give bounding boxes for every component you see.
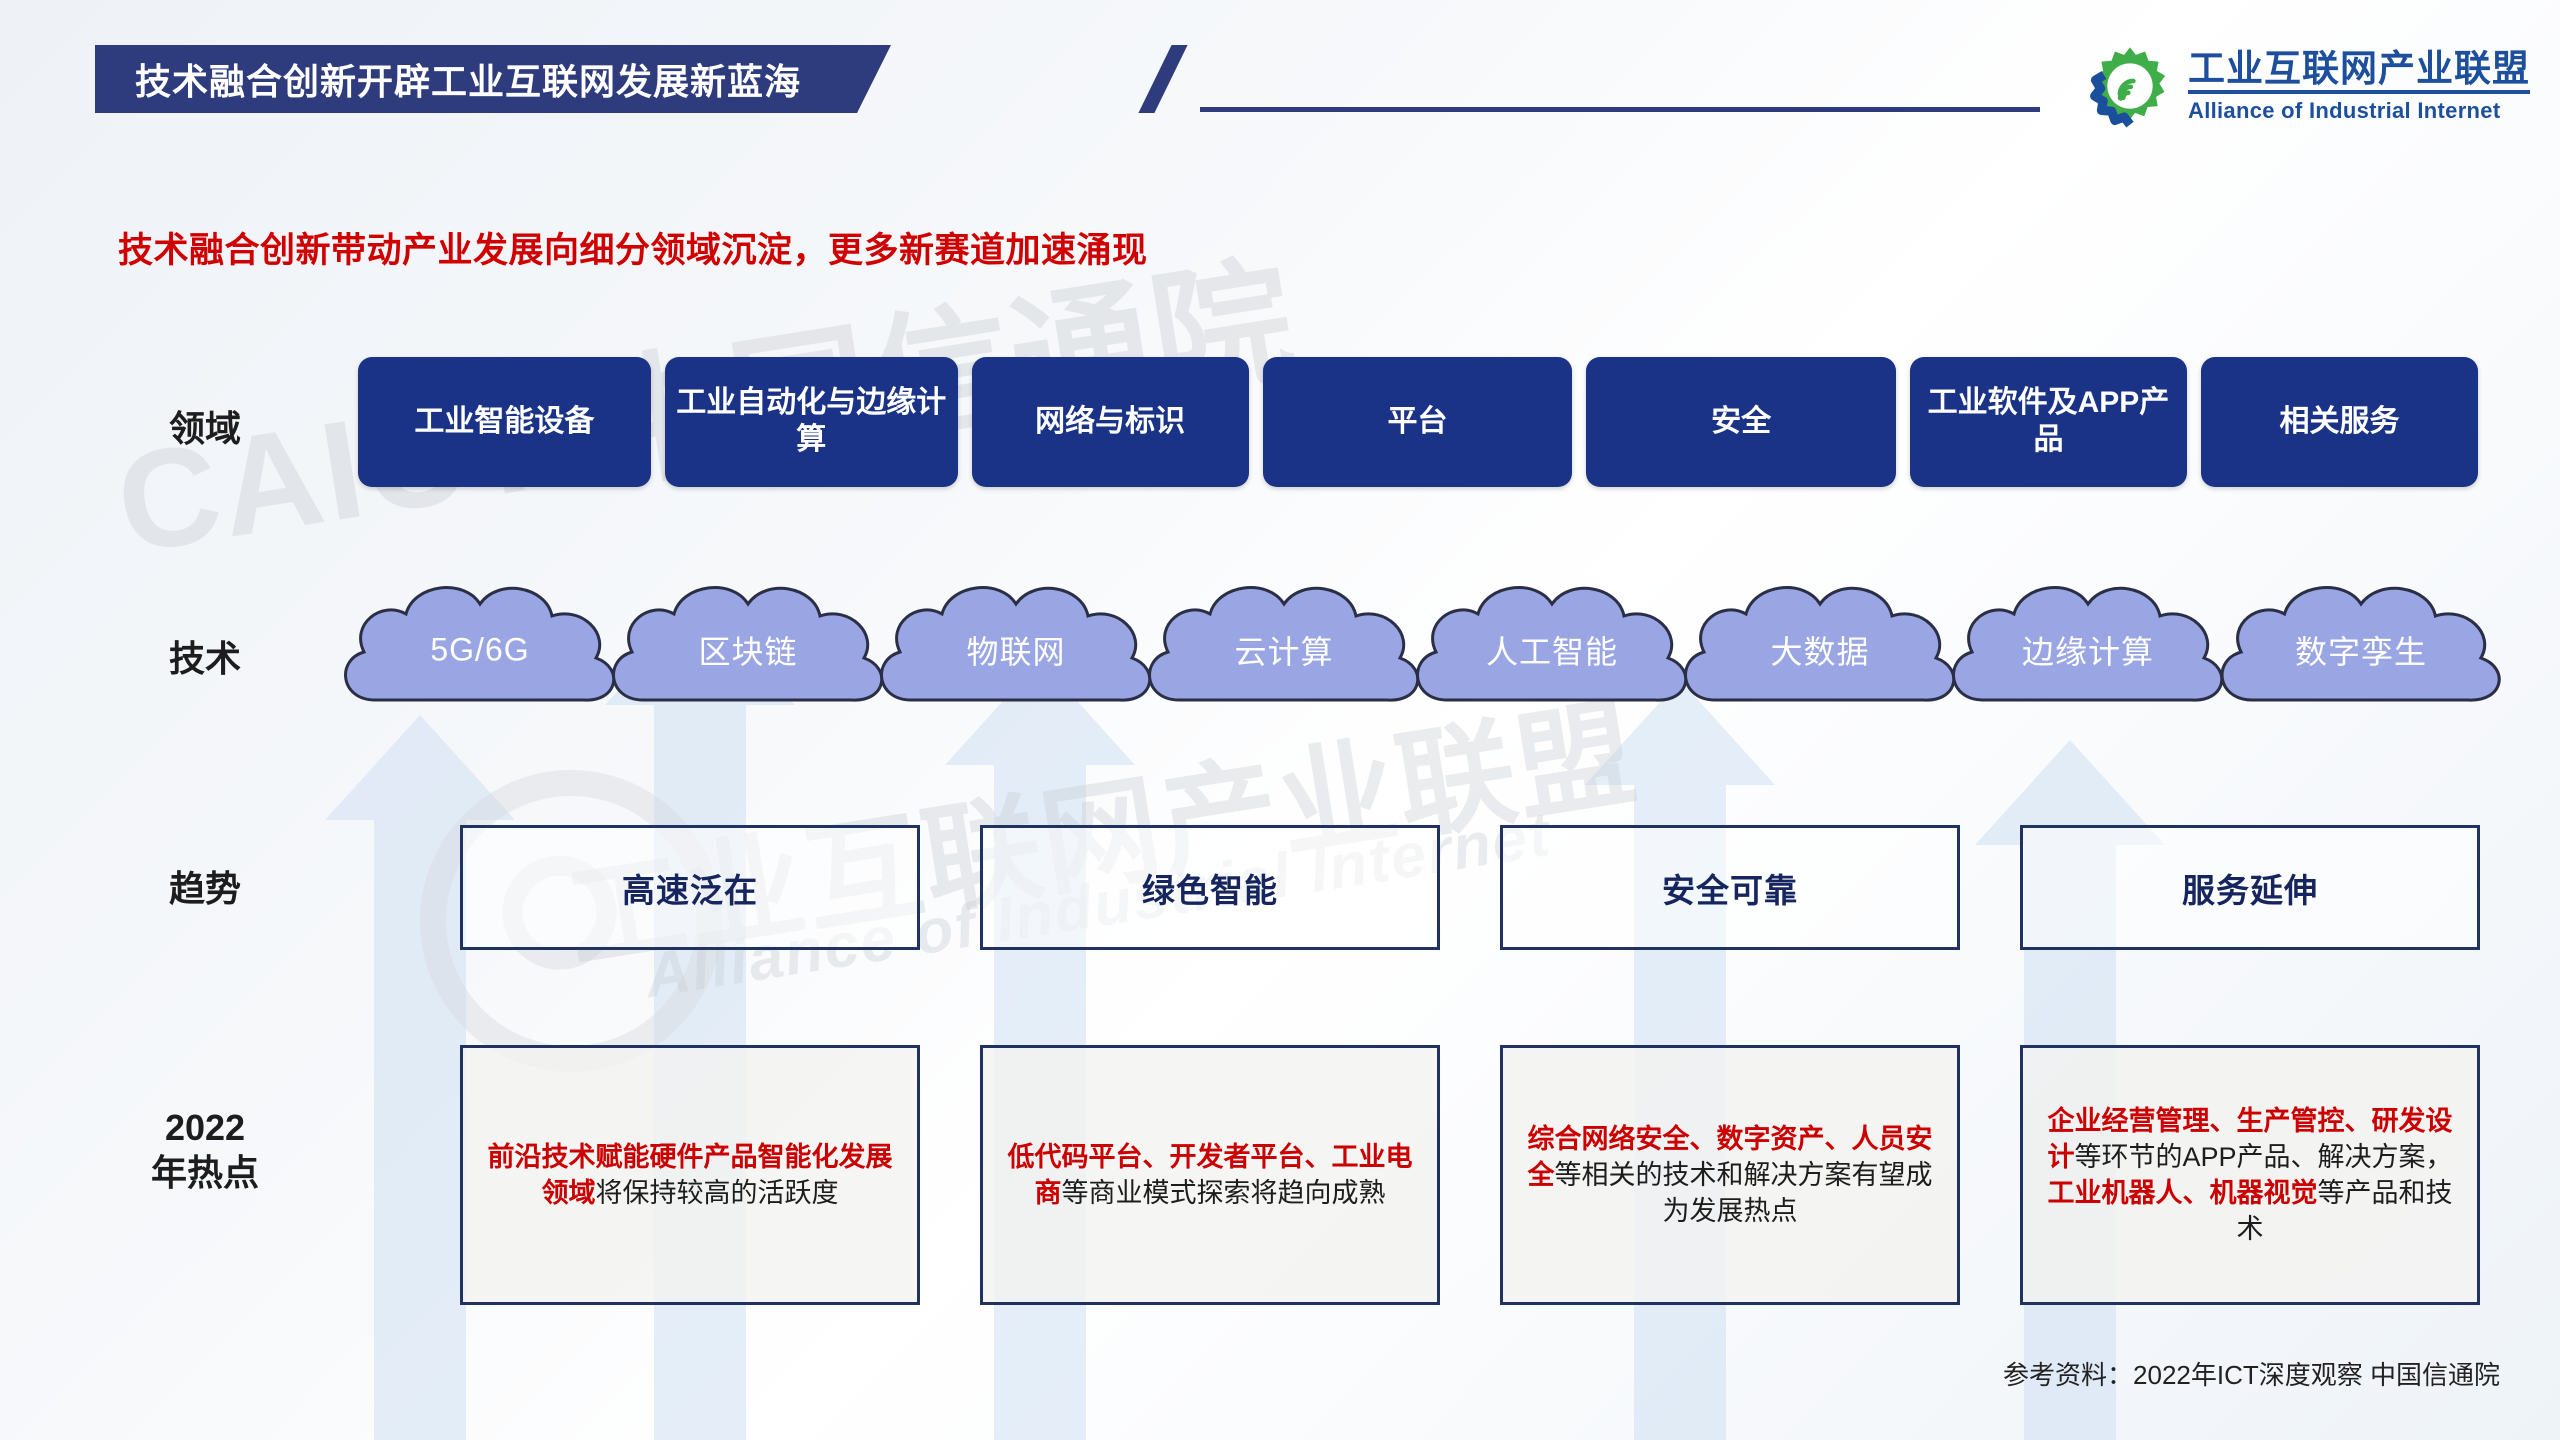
technology-cloud-label: 边缘计算 <box>1938 627 2238 673</box>
logo-title-cn: 工业互联网产业联盟 <box>2188 50 2530 94</box>
hotspot-text: 前沿技术赋能硬件产品智能化发展领域将保持较高的活跃度 <box>477 1139 903 1211</box>
domain-box[interactable]: 相关服务 <box>2201 357 2478 487</box>
source-note: 参考资料：2022年ICT深度观察 中国信通院 <box>2003 1355 2500 1392</box>
row-label-hotspot: 2022 年热点 <box>110 1105 300 1195</box>
technology-cloud-label: 大数据 <box>1670 627 1970 673</box>
logo-title-en: Alliance of Industrial Internet <box>2188 100 2530 122</box>
hotspot-plain: 等环节的APP产品、解决方案， <box>2074 1142 2452 1172</box>
hotspot-box[interactable]: 企业经营管理、生产管控、研发设计等环节的APP产品、解决方案，工业机器人、机器视… <box>2020 1045 2480 1305</box>
domain-box[interactable]: 工业自动化与边缘计算 <box>665 357 958 487</box>
alliance-logo: 工业互联网产业联盟 Alliance of Industrial Interne… <box>2088 44 2530 128</box>
header-slash-decoration <box>1138 45 1187 113</box>
hotspot-text: 企业经营管理、生产管控、研发设计等环节的APP产品、解决方案，工业机器人、机器视… <box>2037 1103 2463 1248</box>
row-label-hotspot-year: 2022 <box>110 1105 300 1150</box>
hotspot-box[interactable]: 前沿技术赋能硬件产品智能化发展领域将保持较高的活跃度 <box>460 1045 920 1305</box>
logo-text-block: 工业互联网产业联盟 Alliance of Industrial Interne… <box>2188 50 2530 122</box>
slide-root: CAICT 中国信通院 工业互联网产业联盟 Alliance of Indust… <box>0 0 2560 1440</box>
domain-box[interactable]: 平台 <box>1263 357 1573 487</box>
technology-cloud[interactable]: 物联网 <box>866 560 1166 740</box>
technology-cloud[interactable]: 云计算 <box>1134 560 1434 740</box>
section-subtitle: 技术融合创新带动产业发展向细分领域沉淀，更多新赛道加速涌现 <box>118 222 1148 273</box>
trend-row: 高速泛在 绿色智能 安全可靠 服务延伸 <box>460 825 2480 950</box>
hotspot-text: 低代码平台、开发者平台、工业电商等商业模式探索将趋向成熟 <box>997 1139 1423 1211</box>
domain-row: 工业智能设备 工业自动化与边缘计算 网络与标识 平台 安全 工业软件及APP产品… <box>358 357 2478 487</box>
trend-box[interactable]: 安全可靠 <box>1500 825 1960 950</box>
technology-cloud[interactable]: 大数据 <box>1670 560 1970 740</box>
hotspot-plain: 将保持较高的活跃度 <box>596 1178 839 1208</box>
hotspot-box[interactable]: 综合网络安全、数字资产、人员安全等相关的技术和解决方案有望成为发展热点 <box>1500 1045 1960 1305</box>
row-label-technology: 技术 <box>110 630 300 682</box>
trend-box[interactable]: 绿色智能 <box>980 825 1440 950</box>
domain-box[interactable]: 网络与标识 <box>972 357 1249 487</box>
technology-cloud-label: 数字孪生 <box>2206 627 2516 673</box>
technology-cloud-label: 物联网 <box>866 627 1166 673</box>
trend-box[interactable]: 服务延伸 <box>2020 825 2480 950</box>
page-title: 技术融合创新开辟工业互联网发展新蓝海 <box>135 53 801 105</box>
technology-cloud[interactable]: 人工智能 <box>1402 560 1702 740</box>
domain-box[interactable]: 工业智能设备 <box>358 357 651 487</box>
domain-box[interactable]: 安全 <box>1586 357 1896 487</box>
row-label-hotspot-text: 年热点 <box>110 1150 300 1195</box>
technology-cloud[interactable]: 边缘计算 <box>1938 560 2238 740</box>
gear-wifi-icon <box>2088 44 2172 128</box>
domain-box[interactable]: 工业软件及APP产品 <box>1910 357 2187 487</box>
technology-cloud-label: 人工智能 <box>1402 627 1702 673</box>
technology-cloud[interactable]: 区块链 <box>598 560 898 740</box>
technology-cloud-label: 5G/6G <box>330 632 630 669</box>
hotspot-plain: 等相关的技术和解决方案有望成为发展热点 <box>1555 1160 1933 1226</box>
technology-cloud[interactable]: 数字孪生 <box>2206 560 2516 740</box>
hotspot-plain: 等商业模式探索将趋向成熟 <box>1062 1178 1386 1208</box>
technology-row: 5G/6G 区块链 物联网 云计算 人工智能 <box>330 560 2520 740</box>
technology-cloud-label: 区块链 <box>598 627 898 673</box>
hotspot-row: 前沿技术赋能硬件产品智能化发展领域将保持较高的活跃度 低代码平台、开发者平台、工… <box>460 1045 2480 1305</box>
row-label-domain: 领域 <box>110 400 300 452</box>
row-label-trend: 趋势 <box>110 860 300 912</box>
header-rule <box>1200 107 2040 112</box>
hotspot-highlight: 工业机器人、机器视觉 <box>2048 1178 2318 1208</box>
technology-cloud[interactable]: 5G/6G <box>330 560 630 740</box>
hotspot-text: 综合网络安全、数字资产、人员安全等相关的技术和解决方案有望成为发展热点 <box>1517 1121 1943 1230</box>
trend-box[interactable]: 高速泛在 <box>460 825 920 950</box>
hotspot-box[interactable]: 低代码平台、开发者平台、工业电商等商业模式探索将趋向成熟 <box>980 1045 1440 1305</box>
technology-cloud-label: 云计算 <box>1134 627 1434 673</box>
header-band: 技术融合创新开辟工业互联网发展新蓝海 <box>95 45 891 113</box>
